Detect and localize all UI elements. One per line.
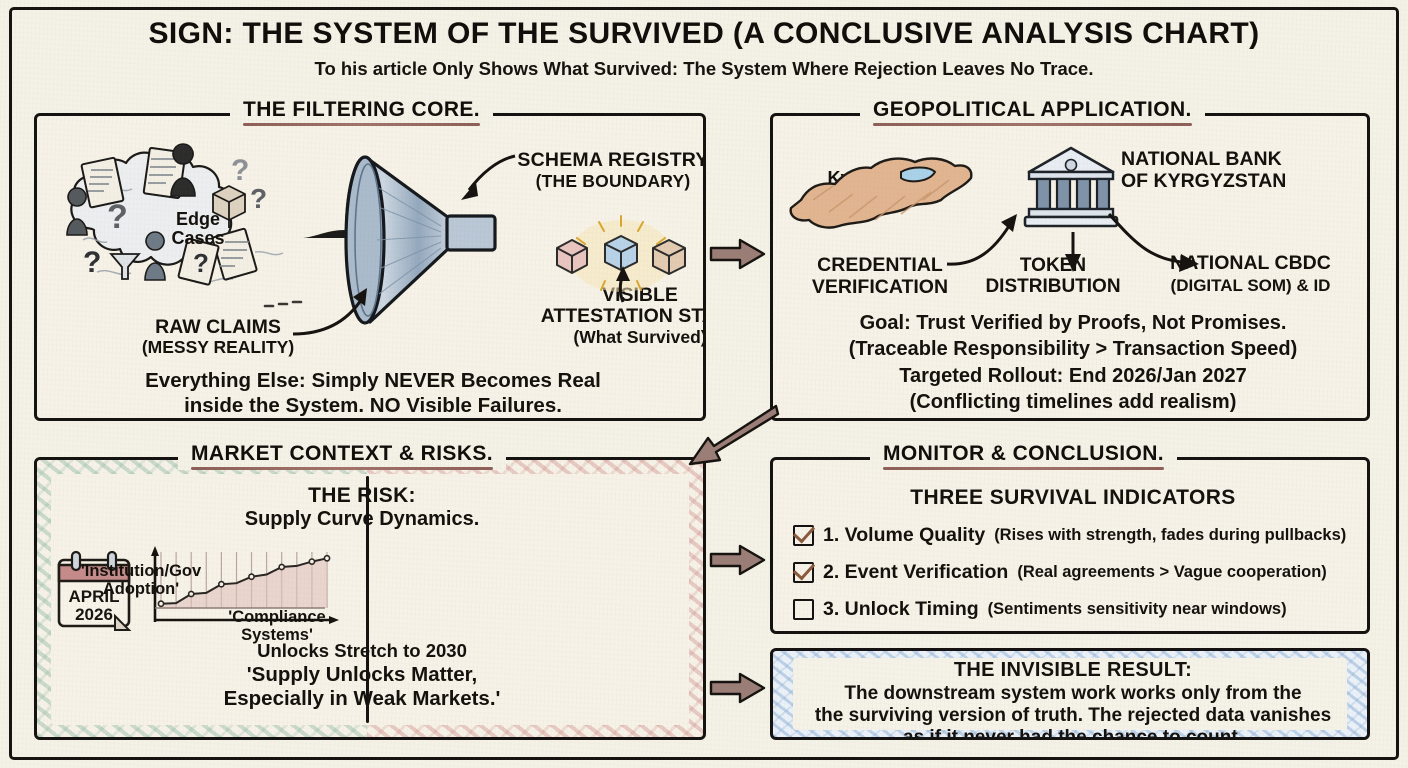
geopolitical-footer: Goal: Trust Verified by Proofs, Not Prom… (773, 310, 1370, 416)
bank-to-token-arrow (1061, 232, 1085, 274)
risk-card: THE RISK: Supply Curve Dynamics. APRIL 2… (51, 474, 673, 725)
monitor-heading: THREE SURVIVAL INDICATORS (773, 486, 1370, 510)
checkbox-icon-3[interactable] (793, 599, 814, 620)
risk-quote: 'Supply Unlocks Matter, Especially in We… (51, 663, 673, 711)
market-panel-divider (366, 476, 369, 723)
indicator-label-3: 3. Unlock Timing (823, 598, 979, 621)
raw-claims-pointer-arrow (291, 284, 381, 340)
svg-text:?: ? (250, 183, 267, 214)
invisible-result-text: The downstream system work works only fr… (773, 683, 1370, 740)
page-title: SIGN: THE SYSTEM OF THE SURVIVED (A CONC… (0, 17, 1408, 51)
chart-caption: Unlocks Stretch to 2030 (51, 640, 673, 662)
checkbox-icon-2[interactable] (793, 562, 814, 583)
checkbox-icon-1[interactable] (793, 525, 814, 546)
indicator-label-1: 1. Volume Quality (823, 524, 985, 547)
panel-monitor-conclusion: THREE SURVIVAL INDICATORS 1. Volume Qual… (770, 457, 1370, 634)
schema-registry-label: SCHEMA REGISTRY (THE BOUNDARY) (503, 150, 706, 191)
indicator-note-2: (Real agreements > Vague cooperation) (1017, 563, 1326, 582)
svg-text:?: ? (83, 246, 101, 279)
panel-market-context-risks: THE OPPORTUNITY: Grounded Narrative. 'In… (34, 457, 706, 740)
connector-arrow-market-to-result (710, 672, 768, 706)
calendar-year-text: 2026 (75, 605, 113, 624)
panel-filtering-core: ? ? ? ? ? Edge Cases (34, 113, 706, 421)
panel-title-geopolitical: GEOPOLITICAL APPLICATION. (860, 98, 1205, 126)
pin-label-institution: 'Institution/Gov Adoption' (73, 562, 209, 598)
filtering-core-footer: Everything Else: Simply NEVER Becomes Re… (37, 369, 706, 418)
svg-text:?: ? (107, 198, 128, 236)
page-subtitle: To his article Only Shows What Survived:… (0, 58, 1408, 80)
indicator-label-2: 2. Event Verification (823, 561, 1008, 584)
invisible-result-title: THE INVISIBLE RESULT: (773, 659, 1370, 682)
svg-text:?: ? (231, 154, 249, 187)
panel-geopolitical-application: Kyrgyzstan NATIONAL BANK OF KYRGYZSTAN (770, 113, 1370, 421)
connector-arrow-market-to-monitor (710, 544, 768, 578)
national-bank-label: NATIONAL BANK OF KYRGYZSTAN (1121, 148, 1351, 193)
svg-text:?: ? (193, 248, 209, 278)
panel-invisible-result: THE INVISIBLE RESULT: The downstream sys… (770, 648, 1370, 740)
edge-cases-label: Edge Cases (155, 210, 241, 248)
schema-registry-pointer-arrow (451, 148, 523, 208)
indicator-row-2[interactable]: 2. Event Verification (Real agreements >… (793, 561, 1327, 584)
panel-title-monitor: MONITOR & CONCLUSION. (870, 442, 1177, 470)
connector-arrow-filtering-to-geo (710, 238, 768, 272)
bank-to-cbdc-arrow (1103, 208, 1209, 270)
indicator-row-1[interactable]: 1. Volume Quality (Rises with strength, … (793, 524, 1346, 547)
connector-arrow-geo-to-market (684, 404, 778, 468)
panel-title-market: MARKET CONTEXT & RISKS. (178, 442, 506, 470)
panel-title-filtering-core: THE FILTERING CORE. (230, 98, 493, 126)
credential-to-bank-arrow (943, 208, 1043, 270)
risk-heading: THE RISK: Supply Curve Dynamics. (51, 484, 673, 531)
indicator-note-1: (Rises with strength, fades during pullb… (994, 526, 1346, 545)
dashed-hint-line (263, 298, 303, 312)
visible-state-pointer-arrow (607, 266, 637, 304)
indicator-row-3[interactable]: 3. Unlock Timing (Sentiments sensitivity… (793, 598, 1287, 621)
indicator-note-3: (Sentiments sensitivity near windows) (988, 600, 1287, 619)
invisible-result-body: THE INVISIBLE RESULT: The downstream sys… (773, 659, 1370, 740)
pin-label-compliance: 'Compliance Systems' (215, 608, 339, 644)
infographic-root: SIGN: THE SYSTEM OF THE SURVIVED (A CONC… (0, 0, 1408, 768)
